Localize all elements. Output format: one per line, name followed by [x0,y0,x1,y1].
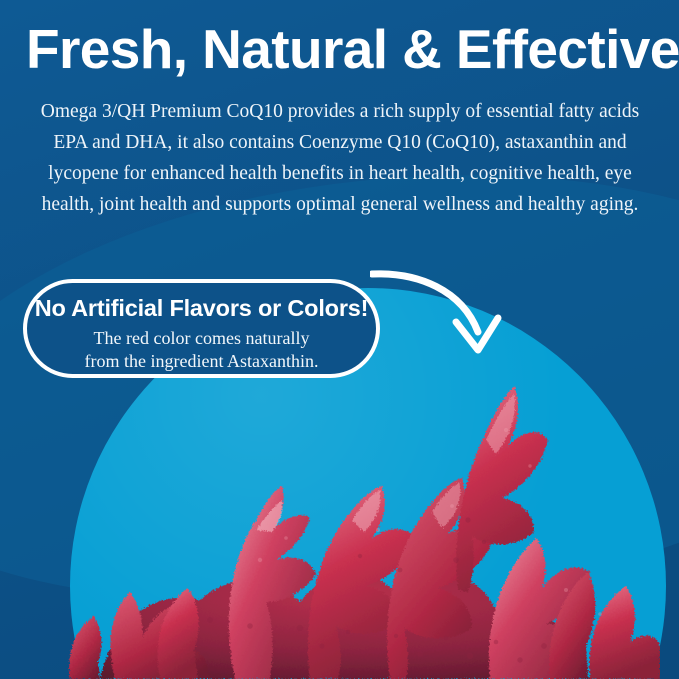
callout-subtitle: The red color comes naturally from the i… [27,327,376,373]
callout-bubble: No Artificial Flavors or Colors! The red… [23,279,380,378]
page-title: Fresh, Natural & Effective [26,22,666,77]
callout-subtitle-line-1: The red color comes naturally [27,327,376,350]
description-paragraph: Omega 3/QH Premium CoQ10 provides a rich… [22,96,658,220]
red-seaweed-algae-image [60,370,660,679]
callout-title: No Artificial Flavors or Colors! [27,295,376,322]
product-feature-banner: Fresh, Natural & Effective Omega 3/QH Pr… [0,0,679,679]
callout-subtitle-line-2: from the ingredient Astaxanthin. [27,350,376,373]
description-text: Omega 3/QH Premium CoQ10 provides a rich… [22,96,658,220]
curved-down-arrow-icon [370,268,540,388]
